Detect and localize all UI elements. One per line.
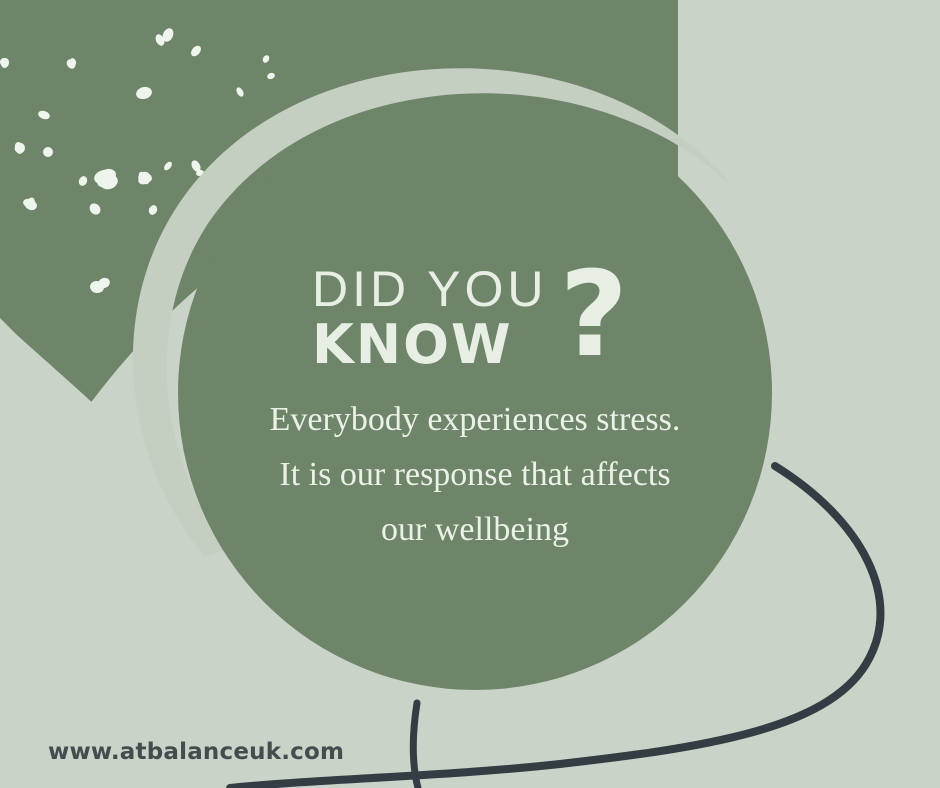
headline-block: DID YOU KNOW ?	[0, 262, 940, 374]
headline-rows: DID YOU KNOW ?	[312, 262, 628, 374]
headline-line-did-you: DID YOU	[312, 262, 547, 316]
headline-lines: DID YOU KNOW	[312, 262, 547, 374]
body-line-3: our wellbeing	[170, 502, 780, 557]
question-mark-glyph: ?	[560, 258, 628, 370]
body-copy: Everybody experiences stress. It is our …	[170, 392, 780, 557]
body-line-2: It is our response that affects	[170, 447, 780, 502]
poster-canvas: DID YOU KNOW ? Everybody experiences str…	[0, 0, 940, 788]
website-url[interactable]: www.atbalanceuk.com	[48, 739, 344, 765]
headline-line-know: KNOW	[312, 316, 547, 374]
body-line-1: Everybody experiences stress.	[170, 392, 780, 447]
